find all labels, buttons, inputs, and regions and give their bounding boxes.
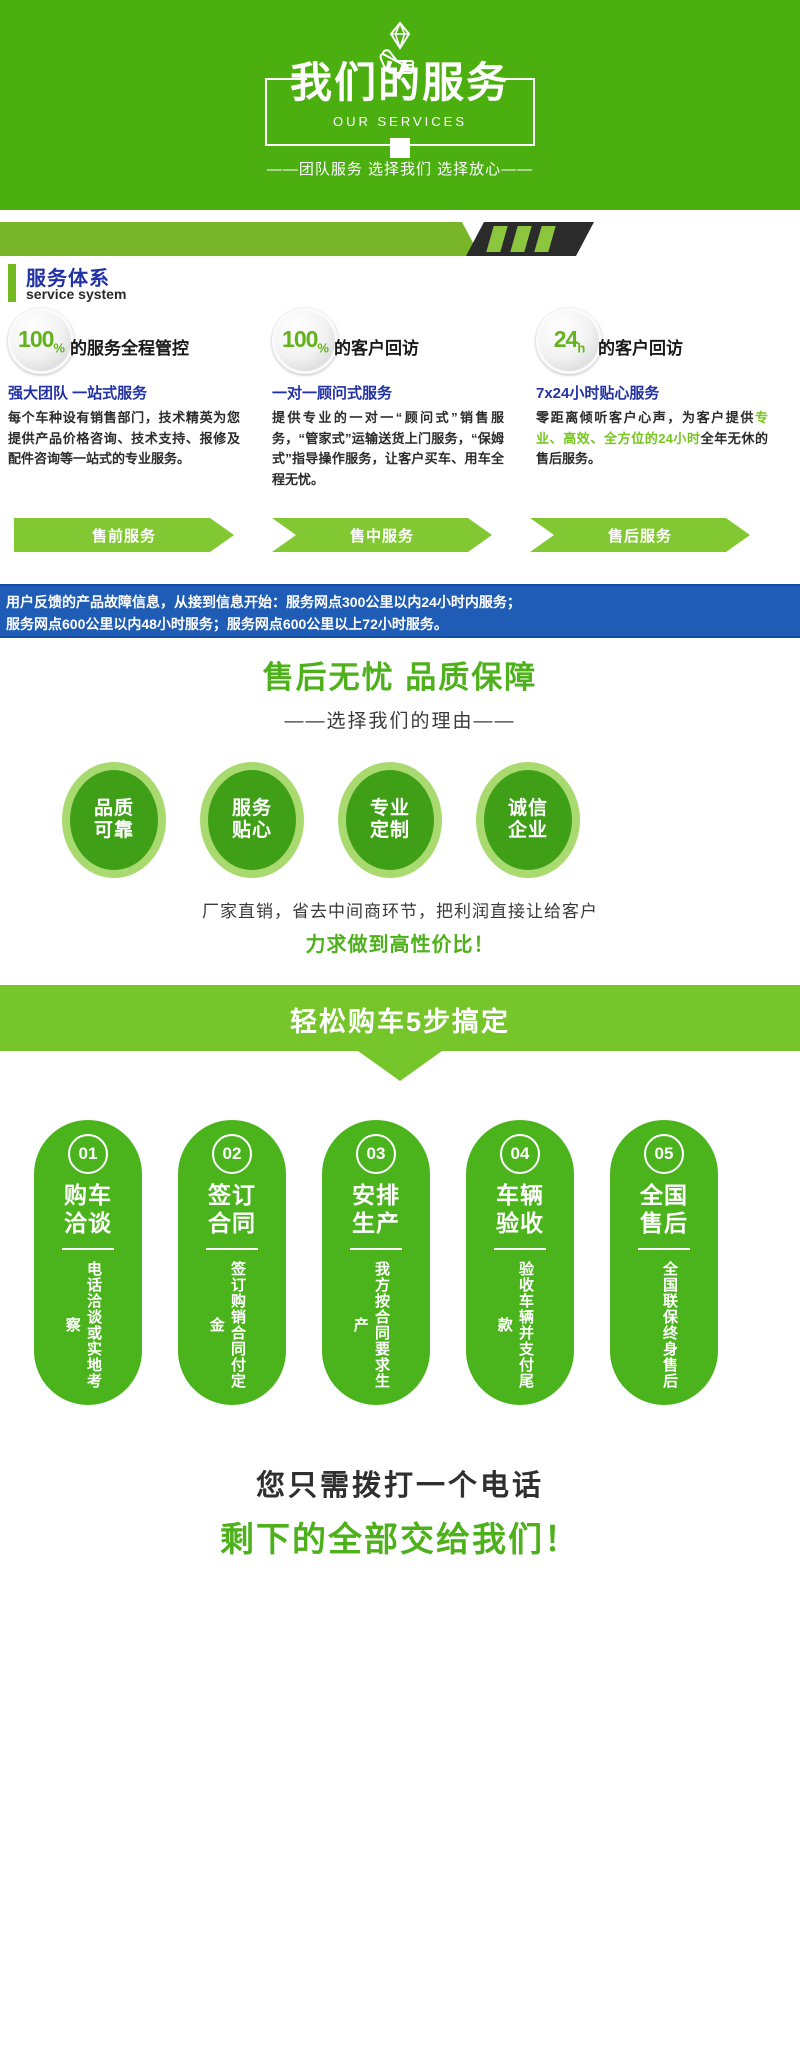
badge-unit-1: % bbox=[53, 340, 64, 355]
step-desc-2: 签订购销合同付定金 bbox=[216, 1260, 248, 1390]
arrow-during-sale[interactable]: 售中服务 bbox=[272, 518, 492, 552]
step-number-2: 02 bbox=[212, 1134, 252, 1174]
arrow-pre-sale[interactable]: 售前服务 bbox=[14, 518, 234, 552]
step-name-5: 全国 售后 bbox=[628, 1182, 700, 1237]
factory-direct-line: 厂家直销，省去中间商环节，把利润直接让给客户 bbox=[202, 897, 598, 922]
badge-label-1: 的服务全程管控 bbox=[70, 334, 189, 359]
footer-line-2: 剩下的全部交给我们！ bbox=[220, 1512, 580, 1561]
step-desc-1: 电话洽谈或实地考察 bbox=[72, 1260, 104, 1390]
hero-slogan: ——团队服务 选择我们 选择放心—— bbox=[267, 158, 533, 179]
reason-circle-3: 专业 定制 bbox=[338, 762, 442, 878]
step-number-4: 04 bbox=[500, 1134, 540, 1174]
badge-unit-3: h bbox=[577, 340, 584, 355]
badge-circle-3: 24h bbox=[536, 308, 602, 374]
footer-line-1: 您只需拨打一个电话 bbox=[256, 1462, 544, 1504]
reason-label-2: 服务 贴心 bbox=[232, 798, 272, 843]
reason-label-4: 诚信 企业 bbox=[508, 798, 548, 843]
step-number-3: 03 bbox=[356, 1134, 396, 1174]
column-title-1: 强大团队 一站式服务 bbox=[8, 382, 147, 403]
band-stripe bbox=[534, 226, 555, 252]
service-column-3: 24h 的客户回访 7x24小时贴心服务 零距离倾听客户心声，为客户提供专业、高… bbox=[536, 308, 776, 376]
step-desc-3: 我方按合同要求生产 bbox=[360, 1260, 392, 1390]
column-title-2: 一对一顾问式服务 bbox=[272, 382, 392, 403]
reasons-subtitle: ——选择我们的理由—— bbox=[284, 706, 515, 733]
column-title-3: 7x24小时贴心服务 bbox=[536, 382, 659, 403]
reason-label-3: 专业 定制 bbox=[370, 798, 410, 843]
reasons-title: 售后无忧 品质保障 bbox=[263, 652, 538, 697]
band-stripe bbox=[510, 226, 531, 252]
response-time-line-2: 服务网点600公里以内48小时服务；服务网点600公里以上72小时服务。 bbox=[6, 613, 794, 635]
service-column-2: 100% 的客户回访 一对一顾问式服务 提供专业的一对一“顾问式”销售服务，“管… bbox=[272, 308, 512, 376]
service-column-1: 100% 的服务全程管控 强大团队 一站式服务 每个车种设有销售部门，技术精英为… bbox=[8, 308, 248, 376]
badge-unit-2: % bbox=[317, 340, 328, 355]
hero-subtitle: OUR SERVICES bbox=[333, 114, 467, 129]
hero-banner: 我们的服务 OUR SERVICES ——团队服务 选择我们 选择放心—— bbox=[0, 0, 800, 210]
purchase-steps: 01 购车 洽谈 电话洽谈或实地考察 02 签订 合同 签订购销合同付定金 03… bbox=[0, 1120, 800, 1410]
heading-accent-bar bbox=[8, 264, 16, 302]
arrow-after-sale[interactable]: 售后服务 bbox=[530, 518, 750, 552]
heading-en: service system bbox=[26, 286, 126, 302]
response-time-line-1: 用户反馈的产品故障信息，从接到信息开始：服务网点300公里以内24小时内服务； bbox=[6, 591, 794, 613]
hero-tick-mark bbox=[390, 138, 410, 158]
badge-value-3: 24 bbox=[554, 326, 578, 352]
reason-circles: 品质 可靠 服务 贴心 专业 定制 诚信 企业 bbox=[0, 762, 800, 882]
column-body-3: 零距离倾听客户心声，为客户提供专业、高效、全方位的24小时全年无休的售后服务。 bbox=[536, 408, 768, 470]
page-title: 我们的服务 bbox=[290, 62, 510, 104]
step-name-4: 车辆 验收 bbox=[484, 1182, 556, 1237]
steps-banner-notch bbox=[358, 1051, 442, 1081]
step-number-5: 05 bbox=[644, 1134, 684, 1174]
band-dark-shape bbox=[466, 222, 594, 256]
reason-circle-2: 服务 贴心 bbox=[200, 762, 304, 878]
step-name-3: 安排 生产 bbox=[340, 1182, 412, 1237]
badge-value-1: 100 bbox=[18, 326, 53, 352]
column-body-1: 每个车种设有销售部门，技术精英为您提供产品价格咨询、技术支持、报修及配件咨询等一… bbox=[8, 408, 240, 470]
reason-circle-4: 诚信 企业 bbox=[476, 762, 580, 878]
step-desc-4: 验收车辆并支付尾款 bbox=[504, 1260, 536, 1390]
band-green-shape bbox=[0, 222, 480, 256]
service-stage-arrows: 售前服务 售中服务 售后服务 bbox=[14, 518, 794, 552]
badge-label-2: 的客户回访 bbox=[334, 334, 419, 359]
arrow-label-1: 售前服务 bbox=[92, 525, 156, 546]
reason-circle-1: 品质 可靠 bbox=[62, 762, 166, 878]
column-body-2: 提供专业的一对一“顾问式”销售服务，“管家式”运输送货上门服务，“保姆式”指导操… bbox=[272, 408, 504, 490]
reason-label-1: 品质 可靠 bbox=[94, 798, 134, 843]
badge-circle-1: 100% bbox=[8, 308, 74, 374]
band-stripe bbox=[486, 226, 507, 252]
arrow-label-2: 售中服务 bbox=[350, 525, 414, 546]
value-for-money-line: 力求做到高性价比！ bbox=[306, 928, 495, 957]
steps-banner-title: 轻松购车5步搞定 bbox=[290, 1000, 510, 1039]
step-desc-5: 全国联保终身售后 bbox=[648, 1260, 680, 1390]
column-body-3-part1: 零距离倾听客户心声，为客户提供 bbox=[536, 410, 755, 425]
step-name-1: 购车 洽谈 bbox=[52, 1182, 124, 1237]
badge-label-3: 的客户回访 bbox=[598, 334, 683, 359]
step-name-2: 签订 合同 bbox=[196, 1182, 268, 1237]
badge-value-2: 100 bbox=[282, 326, 317, 352]
service-system-band bbox=[0, 222, 800, 256]
badge-circle-2: 100% bbox=[272, 308, 338, 374]
step-number-1: 01 bbox=[68, 1134, 108, 1174]
response-time-bar: 用户反馈的产品故障信息，从接到信息开始：服务网点300公里以内24小时内服务； … bbox=[0, 584, 800, 638]
arrow-label-3: 售后服务 bbox=[608, 525, 672, 546]
